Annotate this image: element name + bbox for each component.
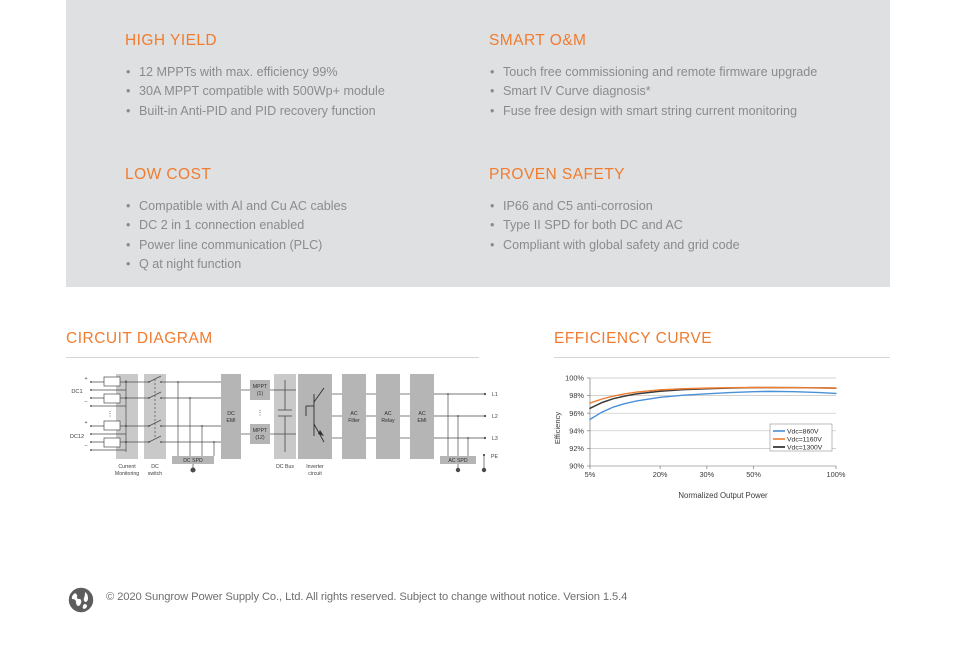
list-item: •Compliant with global safety and grid c… — [489, 236, 889, 254]
input-label-dc12: DC12 — [70, 434, 84, 440]
bullet-icon: • — [490, 82, 494, 100]
series-line — [590, 388, 836, 409]
polarity-label: + — [84, 420, 87, 426]
x-tick-label: 20% — [653, 470, 668, 479]
footer: © 2020 Sungrow Power Supply Co., Ltd. Al… — [66, 585, 890, 617]
bullet-icon: • — [490, 63, 494, 81]
section-heading-circuit-diagram: CIRCUIT DIAGRAM — [66, 330, 479, 358]
polarity-label: + — [84, 376, 87, 382]
list-item-text: 12 MPPTs with max. efficiency 99% — [139, 65, 338, 79]
pe-terminal-dot — [483, 454, 485, 456]
bullet-icon: • — [490, 102, 494, 120]
datasheet-page: HIGH YIELD •12 MPPTs with max. efficienc… — [0, 0, 957, 659]
block-label-ac-relay-l1: AC — [384, 411, 391, 417]
y-tick-label: 96% — [569, 409, 584, 418]
chart-x-axis-ticks: 5%20%30%50%100% — [585, 466, 846, 479]
chart-x-axis-label: Normalized Output Power — [678, 491, 768, 500]
block-label-current-monitoring-l2: Monitoring — [115, 471, 139, 477]
list-item: •Type II SPD for both DC and AC — [489, 216, 889, 234]
list-item-text: Type II SPD for both DC and AC — [503, 218, 683, 232]
y-tick-label: 92% — [569, 444, 584, 453]
block-label-ac-filter-l1: AC — [350, 411, 357, 417]
list-item-text: Smart IV Curve diagnosis* — [503, 84, 651, 98]
feature-title: SMART O&M — [489, 32, 889, 50]
list-item-text: Compliant with global safety and grid co… — [503, 238, 740, 252]
polarity-label: – — [85, 443, 88, 449]
list-item-text: Power line communication (PLC) — [139, 238, 322, 252]
ground-label-pe: PE — [491, 454, 498, 460]
feature-list: •Touch free commissioning and remote fir… — [489, 63, 889, 120]
block-label-mppt1-l2: (1) — [257, 391, 264, 397]
bullet-icon: • — [126, 102, 130, 120]
list-item: •Touch free commissioning and remote fir… — [489, 63, 889, 81]
bullet-icon: • — [490, 236, 494, 254]
list-item: •IP66 and C5 anti-corrosion — [489, 197, 889, 215]
divider — [66, 357, 479, 358]
list-item-text: IP66 and C5 anti-corrosion — [503, 199, 653, 213]
block-mppt-12 — [250, 424, 270, 444]
list-item: •Fuse free design with smart string curr… — [489, 102, 889, 120]
list-item-text: Q at night function — [139, 257, 241, 271]
bullet-icon: • — [126, 255, 130, 273]
dc-spd-ground — [191, 464, 195, 472]
input-label-dc1: DC1 — [71, 389, 82, 395]
x-tick-label: 100% — [827, 470, 846, 479]
chart-y-axis-ticks: 90%92%94%96%98%100% — [565, 374, 590, 471]
feature-block-smart-om: SMART O&M •Touch free commissioning and … — [489, 32, 889, 121]
list-item: •Q at night function — [125, 255, 505, 273]
list-item-text: Compatible with Al and Cu AC cables — [139, 199, 347, 213]
globe-icon — [68, 587, 94, 613]
block-label-inverter-l1: Inverter — [306, 464, 324, 470]
feature-list: •Compatible with Al and Cu AC cables •DC… — [125, 197, 505, 274]
list-item: •Compatible with Al and Cu AC cables — [125, 197, 505, 215]
list-item: •Power line communication (PLC) — [125, 236, 505, 254]
feature-block-proven-safety: PROVEN SAFETY •IP66 and C5 anti-corrosio… — [489, 166, 889, 255]
section-heading-efficiency-curve: EFFICIENCY CURVE — [554, 330, 890, 358]
feature-title: LOW COST — [125, 166, 505, 184]
feature-title: PROVEN SAFETY — [489, 166, 889, 184]
block-label-ac-emi-l1: AC — [418, 411, 425, 417]
block-label-dc-emi-l2: EMI — [226, 418, 235, 424]
block-inverter-circuit — [298, 374, 332, 459]
list-item-text: DC 2 in 1 connection enabled — [139, 218, 304, 232]
ellipsis-vertical: ⋮ — [257, 410, 264, 417]
bullet-icon: • — [126, 82, 130, 100]
block-label-dc-switch-l2: switch — [148, 471, 163, 477]
bullet-icon: • — [490, 197, 494, 215]
list-item-text: Touch free commissioning and remote firm… — [503, 65, 817, 79]
y-tick-label: 94% — [569, 426, 584, 435]
list-item: •DC 2 in 1 connection enabled — [125, 216, 505, 234]
chart-series-lines — [590, 388, 836, 420]
block-label-inverter-l2: circuit — [308, 471, 322, 477]
block-label-mppt12-l2: (12) — [255, 435, 264, 441]
block-label-ac-emi-l2: EMI — [417, 418, 426, 424]
x-tick-label: 5% — [585, 470, 596, 479]
x-tick-label: 50% — [746, 470, 761, 479]
divider — [554, 357, 890, 358]
efficiency-curve-chart: 90%92%94%96%98%100% 5%20%30%50%100% Vdc=… — [548, 368, 848, 503]
legend-label: Vdc=1300V — [787, 445, 823, 452]
list-item: •Smart IV Curve diagnosis* — [489, 82, 889, 100]
bullet-icon: • — [490, 216, 494, 234]
feature-list: •IP66 and C5 anti-corrosion •Type II SPD… — [489, 197, 889, 254]
features-panel: HIGH YIELD •12 MPPTs with max. efficienc… — [66, 0, 890, 287]
y-tick-label: 90% — [569, 462, 584, 471]
list-item: •12 MPPTs with max. efficiency 99% — [125, 63, 505, 81]
block-label-ac-relay-l2: Relay — [381, 418, 395, 424]
output-label-l3: L3 — [492, 436, 498, 442]
feature-block-high-yield: HIGH YIELD •12 MPPTs with max. efficienc… — [125, 32, 505, 121]
block-label-ac-spd: AC SPD — [448, 458, 468, 464]
section-title: CIRCUIT DIAGRAM — [66, 330, 479, 348]
y-tick-label: 98% — [569, 391, 584, 400]
ellipsis-vertical: ⋮ — [107, 411, 114, 418]
list-item-text: Built-in Anti-PID and PID recovery funct… — [139, 104, 376, 118]
copyright-text: © 2020 Sungrow Power Supply Co., Ltd. Al… — [106, 591, 627, 603]
circuit-diagram: + – + – DC1 DC12 ⋮ — [66, 372, 526, 492]
block-mppt-1 — [250, 380, 270, 400]
list-item: •Built-in Anti-PID and PID recovery func… — [125, 102, 505, 120]
feature-title: HIGH YIELD — [125, 32, 505, 50]
feature-list: •12 MPPTs with max. efficiency 99% •30A … — [125, 63, 505, 120]
block-label-ac-filter-l2: Filter — [348, 418, 360, 424]
x-tick-label: 30% — [699, 470, 714, 479]
y-tick-label: 100% — [565, 374, 584, 383]
chart-y-axis-label: Efficiency — [553, 412, 562, 445]
block-label-dc-switch-l1: DC — [151, 464, 159, 470]
block-label-dc-bus: DC Bus — [276, 464, 294, 470]
legend-label: Vdc=1160V — [787, 437, 822, 444]
bullet-icon: • — [126, 197, 130, 215]
list-item-text: Fuse free design with smart string curre… — [503, 104, 797, 118]
section-title: EFFICIENCY CURVE — [554, 330, 890, 348]
block-label-mppt1-l1: MPPT — [253, 384, 268, 390]
bullet-icon: • — [126, 216, 130, 234]
list-item: •30A MPPT compatible with 500Wp+ module — [125, 82, 505, 100]
bullet-icon: • — [126, 236, 130, 254]
block-label-current-monitoring-l1: Current — [118, 464, 136, 470]
list-item-text: 30A MPPT compatible with 500Wp+ module — [139, 84, 385, 98]
block-label-dc-emi-l1: DC — [227, 411, 235, 417]
output-label-l1: L1 — [492, 392, 498, 398]
chart-legend[interactable]: Vdc=860VVdc=1160VVdc=1300V — [770, 424, 832, 452]
legend-label: Vdc=860V — [787, 429, 819, 436]
feature-block-low-cost: LOW COST •Compatible with Al and Cu AC c… — [125, 166, 505, 275]
dc-input-dots — [90, 381, 92, 451]
polarity-label: – — [85, 399, 88, 405]
block-label-dc-spd: DC SPD — [183, 458, 203, 464]
ground-symbol — [482, 468, 486, 472]
block-label-mppt12-l1: MPPT — [253, 428, 268, 434]
output-label-l2: L2 — [492, 414, 498, 420]
ground-symbol — [456, 468, 460, 472]
bullet-icon: • — [126, 63, 130, 81]
